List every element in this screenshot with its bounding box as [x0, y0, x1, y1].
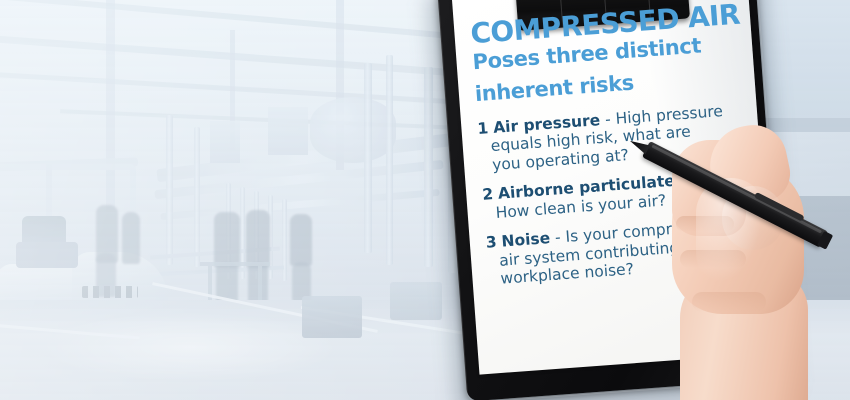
item-3-number: 3 [485, 233, 497, 252]
pen-end-cap [817, 231, 833, 250]
item-1-number: 1 [477, 119, 489, 138]
item-1-dash: - [604, 110, 611, 128]
hand-with-pen [636, 120, 850, 400]
finger-crease [692, 292, 766, 312]
screenshot-stage: COMPRESSED AIR Poses three distinct inhe… [0, 0, 850, 400]
item-3-dash: - [554, 229, 561, 247]
item-2-number: 2 [482, 185, 494, 204]
